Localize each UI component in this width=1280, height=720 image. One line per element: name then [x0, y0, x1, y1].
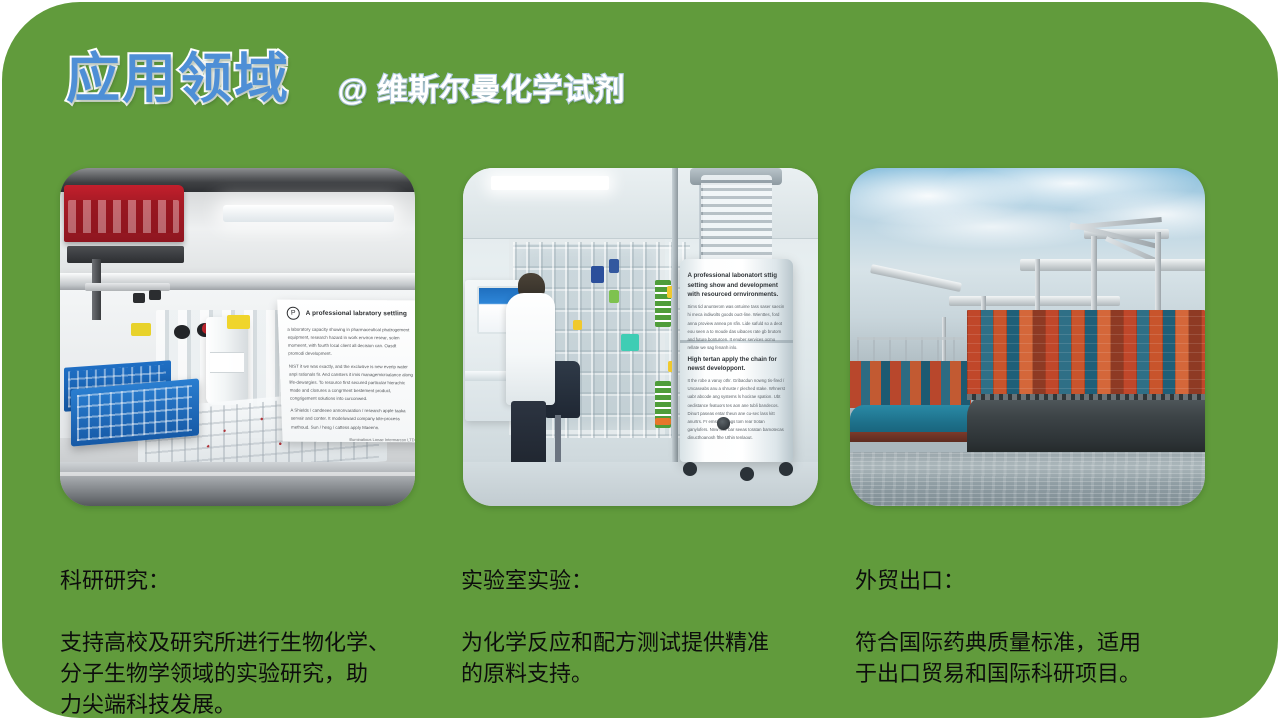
- crane-beam-main: [1020, 259, 1205, 270]
- harbour-water: [850, 452, 1205, 506]
- photo-overlay-sign: P A professional labratory settling a la…: [277, 299, 415, 442]
- green-equipment-chip: [609, 290, 620, 304]
- slide-root: 应用领域 @ 维斯尔曼化学试剂: [0, 0, 1280, 720]
- tank-overlay-block-2: High tertan apply the chain for newst de…: [687, 355, 785, 443]
- sign-paragraph-3: A Shields / candeeee annonvaration / res…: [290, 407, 415, 432]
- orange-hose: [655, 418, 671, 425]
- tank-caster-1: [683, 462, 697, 476]
- containers-main-ship: [967, 310, 1205, 398]
- yellow-valve-1: [573, 320, 582, 330]
- page-title: 应用领域: [66, 52, 290, 106]
- tank-overlay-title-2: High tertan apply the chain for newst de…: [687, 355, 785, 374]
- blue-tube-rack-front: [71, 379, 199, 448]
- tank-caster-2: [740, 467, 754, 481]
- left-ship-hull: [850, 405, 978, 442]
- black-cap-4: [149, 290, 161, 300]
- hood-light: [223, 205, 393, 222]
- black-cap-3: [133, 293, 145, 303]
- sign-footer: illuminatious Lonae Intermarcon LTD.: [292, 436, 415, 442]
- sign-paragraph-2: NIST it we was exactly, and the exclusiv…: [289, 362, 415, 403]
- patent-badge-icon: P: [287, 307, 301, 320]
- scientist-lab-coat: [506, 293, 556, 405]
- caption-research-title: 科研研究：: [60, 565, 420, 596]
- sign-paragraph-1: a laboratory capacity showing in pharmac…: [287, 326, 412, 359]
- container-port-shipping-photo: [850, 168, 1205, 506]
- caption-export-title: 外贸出口：: [855, 565, 1215, 596]
- caption-export-body: 符合国际药典质量标准，适用 于出口贸易和国际科研项目。: [855, 627, 1215, 689]
- tank-overlay-block-1: A professional labonatort sttig setting …: [687, 271, 785, 352]
- hood-dark-bar: [67, 246, 184, 263]
- caption-research: 科研研究： 支持高校及研究所进行生物化学、 分子生物学领域的实验研究，助 力尖端…: [60, 534, 420, 720]
- blue-equipment-panel-1: [591, 266, 604, 283]
- tank-overlay-body-2: It the robe a varuy othr. Gribacdun nown…: [687, 377, 785, 442]
- image-card-lab-experiment[interactable]: A professional labonatort sttig setting …: [463, 168, 818, 506]
- tank-caster-3: [779, 462, 793, 476]
- tank-top-piping: [701, 175, 772, 263]
- vertical-pipe-riser: [672, 168, 678, 479]
- blue-equipment-panel-2: [609, 259, 620, 273]
- brand-handle: @ 维斯尔曼化学试剂: [338, 76, 626, 106]
- caption-research-body: 支持高校及研究所进行生物化学、 分子生物学领域的实验研究，助 力尖端科技发展。: [60, 627, 420, 720]
- reactor-tank: A professional labonatort sttig setting …: [680, 259, 794, 462]
- sign-header: P A professional labratory settling: [287, 307, 412, 321]
- caption-row: 科研研究： 支持高校及研究所进行生物化学、 分子生物学领域的实验研究，助 力尖端…: [0, 534, 1280, 704]
- yellow-cap-1: [131, 323, 151, 335]
- plant-ceiling-light: [491, 176, 608, 190]
- plant-floor: [463, 462, 818, 506]
- pilot-plant-process-lab-photo: A professional labonatort sttig setting …: [463, 168, 818, 506]
- main-ship-hull: [967, 394, 1205, 455]
- image-card-row: P A professional labratory settling a la…: [60, 168, 1193, 506]
- white-reagent-bottle: [206, 317, 249, 405]
- laboratory-fume-hood-photo: P A professional labratory settling a la…: [60, 168, 415, 506]
- image-card-research[interactable]: P A professional labratory settling a la…: [60, 168, 415, 506]
- tank-overlay-body-1: Sims tid anunterom was ontuime tass sase…: [687, 303, 785, 352]
- image-card-export[interactable]: [850, 168, 1205, 506]
- tank-pressure-gauge: [717, 417, 729, 429]
- sign-title: A professional labratory settling: [306, 310, 407, 318]
- caption-lab-experiment-title: 实验室实验：: [461, 565, 821, 596]
- yellow-cap-2: [227, 315, 250, 329]
- black-cap-1: [174, 325, 190, 339]
- hood-counter: [60, 462, 415, 506]
- containers-left-ship: [850, 361, 971, 408]
- tank-overlay-title-1: A professional labonatort sttig setting …: [687, 271, 785, 299]
- caption-lab-experiment: 实验室实验： 为化学反应和配方测试提供精准 的原料支持。: [461, 534, 821, 720]
- caption-export: 外贸出口： 符合国际药典质量标准，适用 于出口贸易和国际科研项目。: [855, 534, 1215, 720]
- sign-body: a laboratory capacity showing in pharmac…: [287, 326, 415, 432]
- teal-equipment-panel: [621, 334, 639, 351]
- red-tube-rack: [64, 185, 185, 242]
- caption-lab-experiment-body: 为化学反应和配方测试提供精准 的原料支持。: [461, 627, 821, 689]
